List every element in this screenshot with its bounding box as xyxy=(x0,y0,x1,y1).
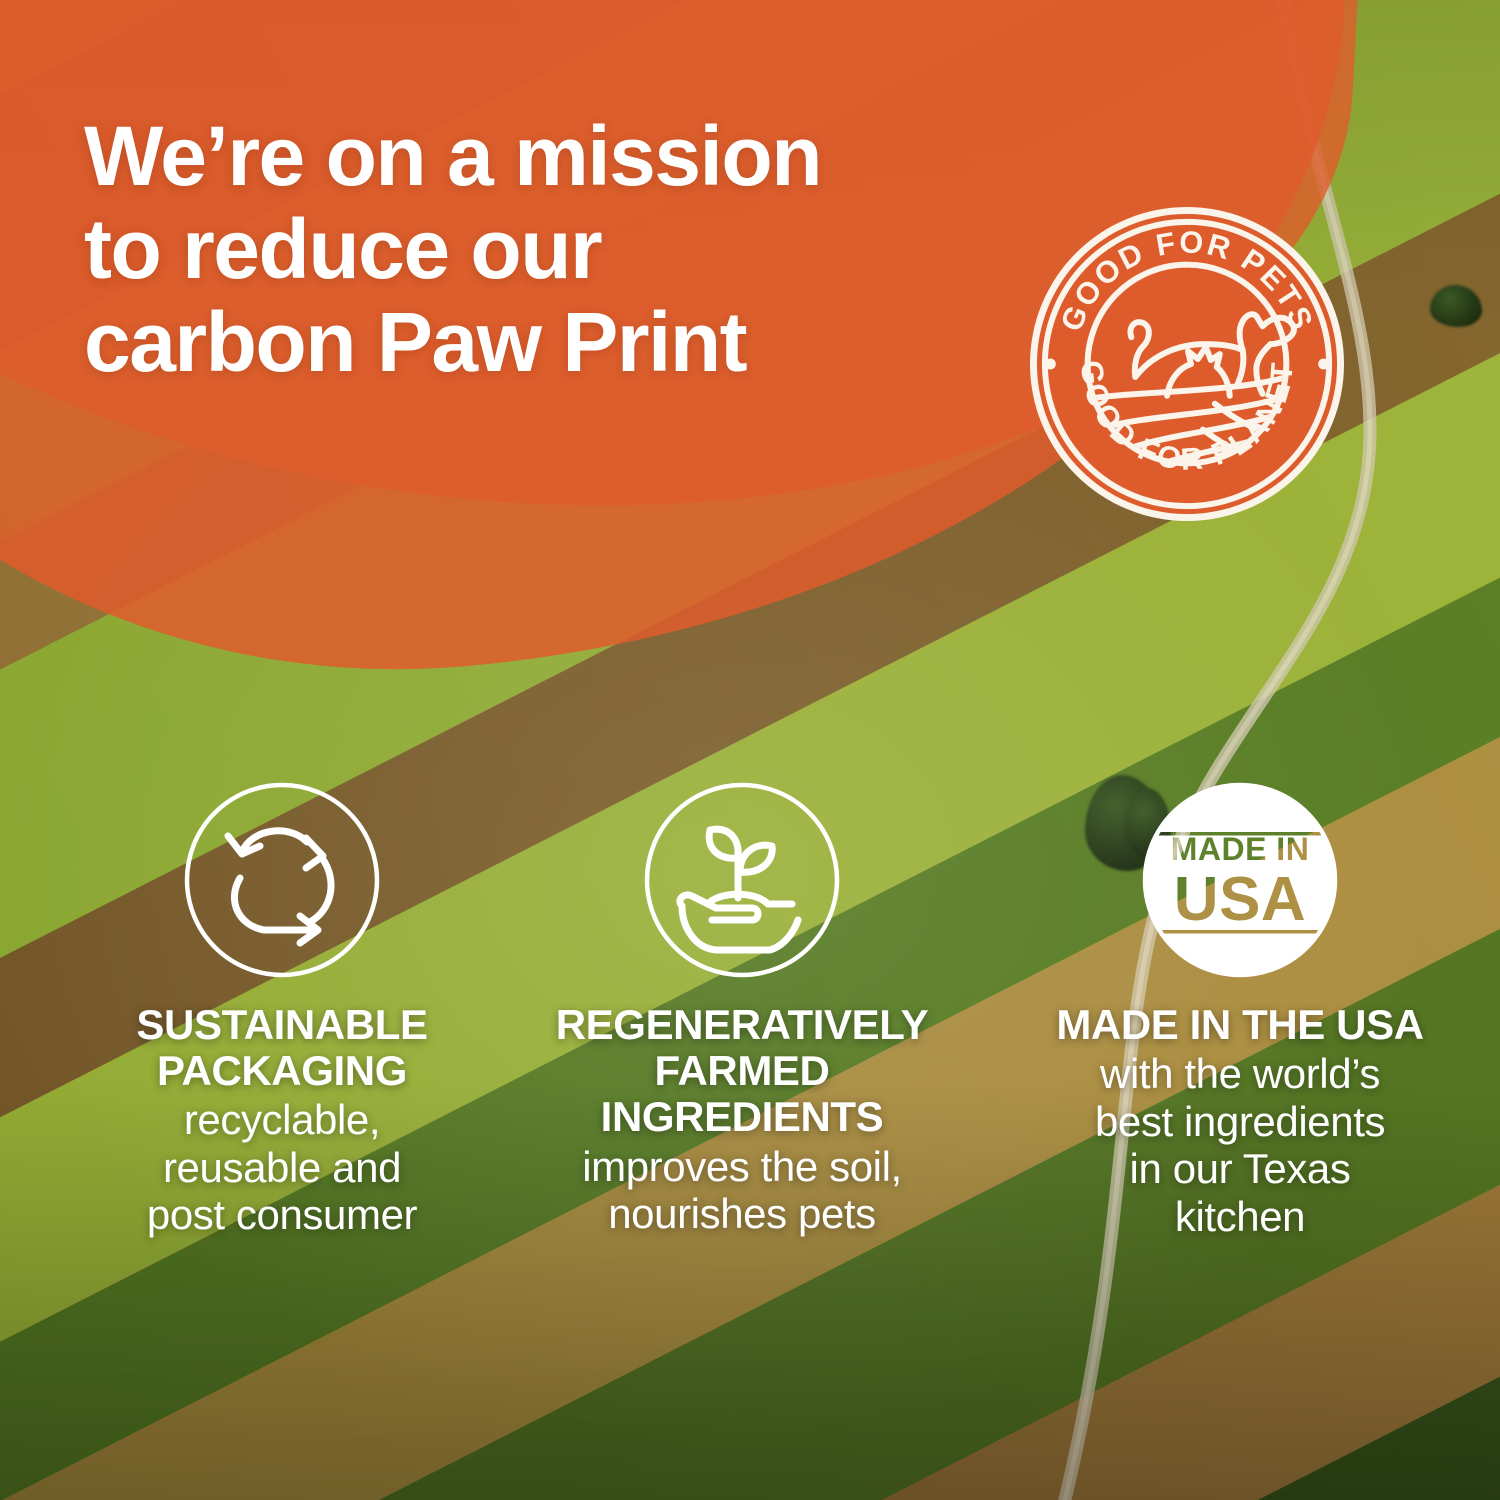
feature-body-line: nourishes pets xyxy=(507,1190,977,1237)
feature-made-in-usa: MADE IN USA MADE IN THE USA with the wor… xyxy=(1005,780,1475,1240)
headline-line-1: We’re on a mission xyxy=(84,110,1064,203)
headline-line-2: to reduce our xyxy=(84,203,1064,296)
feature-title: SUSTAINABLE PACKAGING xyxy=(47,1002,517,1094)
recycle-arrows-icon xyxy=(182,780,382,980)
feature-body: with the world’s best ingredients in our… xyxy=(1005,1050,1475,1240)
feature-title: REGENERATIVELY FARMED INGREDIENTS xyxy=(507,1002,977,1141)
feature-sustainable-packaging: SUSTAINABLE PACKAGING recyclable, reusab… xyxy=(47,780,517,1239)
feature-title-line: SUSTAINABLE xyxy=(47,1002,517,1048)
feature-body-line: best ingredients xyxy=(1005,1098,1475,1145)
feature-body-line: recyclable, xyxy=(47,1096,517,1143)
feature-body-line: with the world’s xyxy=(1005,1050,1475,1097)
feature-body-line: in our Texas xyxy=(1005,1145,1475,1192)
marketing-graphic: We’re on a mission to reduce our carbon … xyxy=(0,0,1500,1500)
feature-body-line: reusable and xyxy=(47,1144,517,1191)
page-title: We’re on a mission to reduce our carbon … xyxy=(84,110,1064,390)
feature-title: MADE IN THE USA xyxy=(1005,1002,1475,1048)
feature-title-line: REGENERATIVELY xyxy=(507,1002,977,1048)
feature-body: recyclable, reusable and post consumer xyxy=(47,1096,517,1238)
feature-title-line: MADE IN THE USA xyxy=(1005,1002,1475,1048)
made-in-usa-badge-icon: MADE IN USA xyxy=(1140,780,1340,980)
feature-regeneratively-farmed: REGENERATIVELY FARMED INGREDIENTS improv… xyxy=(507,780,977,1237)
feature-body-line: kitchen xyxy=(1005,1193,1475,1240)
feature-row: SUSTAINABLE PACKAGING recyclable, reusab… xyxy=(0,780,1500,1360)
feature-title-line: FARMED xyxy=(507,1048,977,1094)
good-for-pets-seal: GOOD FOR PETS GOOD FOR PLANET xyxy=(1028,205,1346,523)
feature-body: improves the soil, nourishes pets xyxy=(507,1143,977,1238)
feature-body-line: post consumer xyxy=(47,1191,517,1238)
feature-title-line: PACKAGING xyxy=(47,1048,517,1094)
hand-holding-sprout-icon xyxy=(642,780,842,980)
headline-line-3: carbon Paw Print xyxy=(84,296,1064,389)
feature-title-line: INGREDIENTS xyxy=(507,1094,977,1140)
feature-body-line: improves the soil, xyxy=(507,1143,977,1190)
